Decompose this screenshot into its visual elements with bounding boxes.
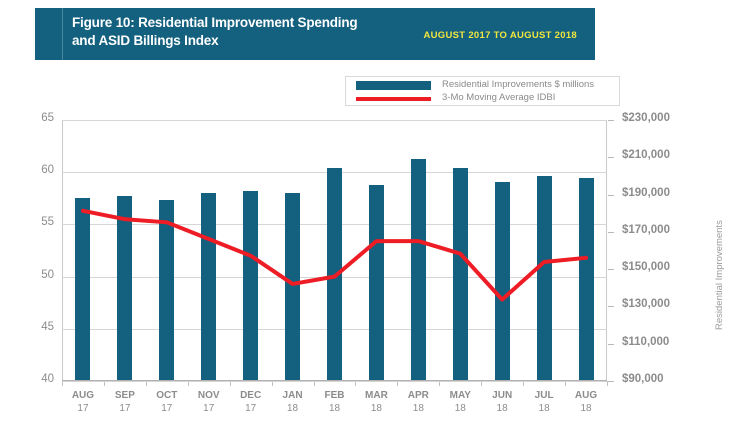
- x-axis-tick-month: JAN: [270, 389, 316, 402]
- y-axis-right-title: Residential Improvements: [714, 220, 725, 330]
- x-axis-tick-label: APR18: [395, 389, 441, 415]
- x-axis-tick-month: AUG: [563, 389, 609, 402]
- y-axis-right-tick: $230,000: [622, 112, 702, 124]
- line-series: [62, 120, 607, 381]
- x-axis-tick-year: 18: [312, 402, 358, 415]
- page-title: Figure 10: Residential Improvement Spend…: [72, 14, 402, 50]
- x-axis-tick-year: 17: [228, 402, 274, 415]
- x-axis-tick-label: NOV17: [186, 389, 232, 415]
- legend-swatch-bar-icon: [356, 81, 431, 90]
- x-axis-tick-label: MAY18: [437, 389, 483, 415]
- x-axis-tick-month: APR: [395, 389, 441, 402]
- x-axis-tick-label: JUN18: [479, 389, 525, 415]
- x-axis-tick-year: 18: [395, 402, 441, 415]
- x-axis-tick-label: JUL18: [521, 389, 567, 415]
- x-axis-tick-month: SEP: [102, 389, 148, 402]
- figure-header-banner: Figure 10: Residential Improvement Spend…: [35, 8, 595, 60]
- x-axis-tick-month: AUG: [60, 389, 106, 402]
- x-axis-tick-year: 17: [144, 402, 190, 415]
- x-axis-tick-month: MAY: [437, 389, 483, 402]
- y-axis-right-tick: $170,000: [622, 224, 702, 236]
- x-axis-tick-year: 18: [437, 402, 483, 415]
- x-axis-tick-year: 17: [60, 402, 106, 415]
- legend-swatch-line-icon: [356, 97, 431, 101]
- y-axis-left-tick: 60: [14, 164, 54, 176]
- x-axis-tick-label: MAR18: [353, 389, 399, 415]
- x-axis-tick-label: SEP17: [102, 389, 148, 415]
- x-axis-tick-month: JUN: [479, 389, 525, 402]
- gridline: [62, 381, 607, 382]
- x-axis-tick-year: 17: [102, 402, 148, 415]
- legend-label-line: 3-Mo Moving Average IDBI: [442, 92, 555, 103]
- figure-container: Figure 10: Residential Improvement Spend…: [0, 0, 730, 425]
- y-axis-right-tick: $150,000: [622, 261, 702, 273]
- x-axis-tick-year: 18: [563, 402, 609, 415]
- x-axis-tick-month: OCT: [144, 389, 190, 402]
- title-line-1: Figure 10: Residential Improvement Spend…: [72, 15, 357, 30]
- x-axis-tick-year: 17: [186, 402, 232, 415]
- y-axis-right-tickmark: [608, 306, 614, 307]
- legend-label-bar: Residential Improvements $ millions: [442, 79, 594, 90]
- y-axis-right-tick: $110,000: [622, 336, 702, 348]
- y-axis-left-tick: 50: [14, 269, 54, 281]
- x-axis-tick-year: 18: [521, 402, 567, 415]
- y-axis-right-tick: $210,000: [622, 149, 702, 161]
- x-axis-tickmark: [607, 381, 608, 386]
- line-series-path: [83, 211, 586, 300]
- x-axis-tick-month: FEB: [312, 389, 358, 402]
- y-axis-left-tick: 55: [14, 216, 54, 228]
- title-line-2: and ASID Billings Index: [72, 32, 402, 50]
- y-axis-right-tickmark: [608, 157, 614, 158]
- y-axis-left-tick: 40: [14, 373, 54, 385]
- y-axis-right-tickmark: [608, 381, 614, 382]
- y-axis-right-tickmark: [608, 195, 614, 196]
- y-axis-right-tick: $130,000: [622, 298, 702, 310]
- y-axis-right-tickmark: [608, 344, 614, 345]
- y-axis-right-tickmark: [608, 269, 614, 270]
- x-axis-tick-month: NOV: [186, 389, 232, 402]
- x-axis-tick-year: 18: [270, 402, 316, 415]
- x-axis-tick-label: JAN18: [270, 389, 316, 415]
- x-axis-tick-month: MAR: [353, 389, 399, 402]
- x-axis-tick-year: 18: [353, 402, 399, 415]
- y-axis-right-tickmark: [608, 120, 614, 121]
- y-axis-right-tickmark: [608, 232, 614, 233]
- y-axis-left-tick: 65: [14, 112, 54, 124]
- y-axis-right-tick: $90,000: [622, 373, 702, 385]
- plot-area: [62, 120, 607, 381]
- x-axis-tick-label: AUG18: [563, 389, 609, 415]
- x-axis-tick-month: JUL: [521, 389, 567, 402]
- y-axis-right-tick: $190,000: [622, 187, 702, 199]
- x-axis-tick-label: AUG17: [60, 389, 106, 415]
- x-axis-tick-label: DEC17: [228, 389, 274, 415]
- x-axis-tick-month: DEC: [228, 389, 274, 402]
- x-axis-tick-label: OCT17: [144, 389, 190, 415]
- x-axis-baseline: [62, 380, 607, 381]
- date-range-label: AUGUST 2017 TO AUGUST 2018: [423, 30, 577, 41]
- x-axis-tick-year: 18: [479, 402, 525, 415]
- x-axis-tick-label: FEB18: [312, 389, 358, 415]
- y-axis-left-tick: 45: [14, 321, 54, 333]
- header-divider: [62, 8, 63, 60]
- chart-legend: Residential Improvements $ millions 3-Mo…: [345, 76, 620, 106]
